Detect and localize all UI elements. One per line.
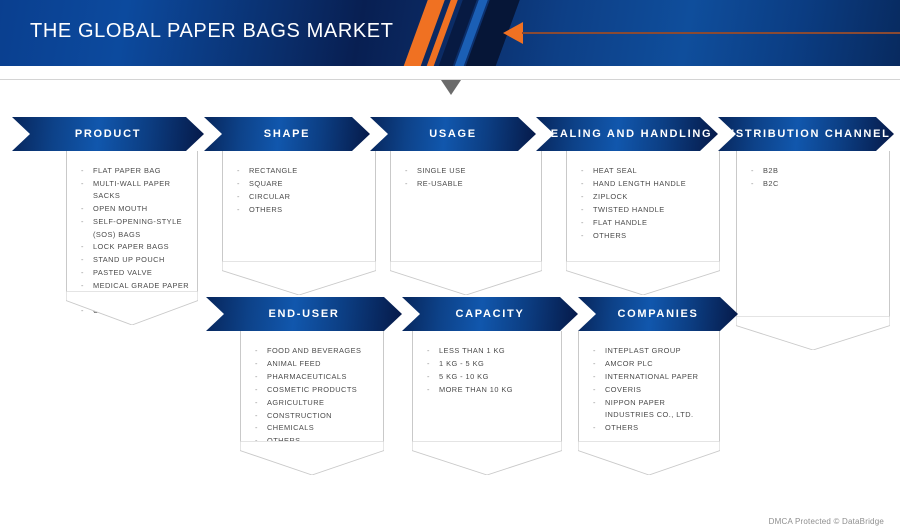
card-pointed-bottom	[390, 261, 542, 295]
list-item: B2C	[763, 178, 883, 190]
list-item: OPEN MOUTH	[93, 203, 191, 215]
category-card-product: FLAT PAPER BAGMULTI-WALL PAPER SACKSOPEN…	[66, 151, 198, 291]
category-item-list-companies: INTEPLAST GROUPAMCOR PLCINTERNATIONAL PA…	[579, 345, 719, 434]
arrow-tail-line	[522, 32, 900, 34]
list-item: ZIPLOCK	[593, 191, 713, 203]
list-item: B2B	[763, 165, 883, 177]
category-card-body: B2BB2C	[737, 151, 889, 190]
down-triangle-icon	[441, 80, 461, 95]
category-card-distribution-channel: B2BB2C	[736, 151, 890, 316]
category-item-list-sealing-and-handling: HEAT SEALHAND LENGTH HANDLEZIPLOCKTWISTE…	[567, 165, 719, 242]
card-pointed-bottom	[412, 441, 562, 475]
category-card-companies: INTEPLAST GROUPAMCOR PLCINTERNATIONAL PA…	[578, 331, 720, 441]
card-pointed-bottom	[66, 291, 198, 325]
category-banner-label: USAGE	[429, 128, 477, 140]
category-item-list-usage: SINGLE USERE-USABLE	[391, 165, 541, 190]
list-item: ANIMAL FEED	[267, 358, 377, 370]
list-item: MULTI-WALL PAPER SACKS	[93, 178, 191, 203]
list-item: INTEPLAST GROUP	[605, 345, 713, 357]
list-item: STAND UP POUCH	[93, 254, 191, 266]
card-pointed-bottom	[578, 441, 720, 475]
card-pointed-bottom	[566, 261, 720, 295]
list-item: HEAT SEAL	[593, 165, 713, 177]
list-item: SELF-OPENING-STYLE (SOS) BAGS	[93, 216, 191, 241]
list-item: OTHERS	[593, 230, 713, 242]
category-item-list-shape: RECTANGLESQUARECIRCULAROTHERS	[223, 165, 375, 216]
category-card-body: LESS THAN 1 KG1 KG - 5 KG5 KG - 10 KGMOR…	[413, 331, 561, 396]
list-item: INTERNATIONAL PAPER	[605, 371, 713, 383]
category-item-list-distribution-channel: B2BB2C	[737, 165, 889, 190]
category-banner-label: SHAPE	[264, 128, 310, 140]
card-pointed-bottom	[222, 261, 376, 295]
list-item: FOOD AND BEVERAGES	[267, 345, 377, 357]
list-item: MORE THAN 10 KG	[439, 384, 555, 396]
list-item: CIRCULAR	[249, 191, 369, 203]
list-item: FLAT HANDLE	[593, 217, 713, 229]
category-banner-usage[interactable]: USAGE	[370, 117, 536, 151]
card-pointed-bottom	[736, 316, 890, 350]
list-item: HAND LENGTH HANDLE	[593, 178, 713, 190]
list-item: CONSTRUCTION	[267, 410, 377, 422]
category-banner-companies[interactable]: COMPANIES	[578, 297, 738, 331]
list-item: COSMETIC PRODUCTS	[267, 384, 377, 396]
page-header: THE GLOBAL PAPER BAGS MARKET	[0, 0, 900, 66]
category-banner-capacity[interactable]: CAPACITY	[402, 297, 578, 331]
list-item: OTHERS	[605, 422, 713, 434]
category-banner-label: END-USER	[268, 308, 339, 320]
category-card-usage: SINGLE USERE-USABLE	[390, 151, 542, 261]
page-title: THE GLOBAL PAPER BAGS MARKET	[30, 20, 394, 43]
category-item-list-end-user: FOOD AND BEVERAGESANIMAL FEEDPHARMACEUTI…	[241, 345, 383, 448]
category-banner-label: PRODUCT	[75, 128, 141, 140]
list-item: AGRICULTURE	[267, 397, 377, 409]
list-item: SQUARE	[249, 178, 369, 190]
list-item: LESS THAN 1 KG	[439, 345, 555, 357]
category-banner-product[interactable]: PRODUCT	[12, 117, 204, 151]
category-card-body: RECTANGLESQUARECIRCULAROTHERS	[223, 151, 375, 216]
category-banner-distribution-channel[interactable]: DISTRIBUTION CHANNEL	[718, 117, 894, 151]
category-card-body: SINGLE USERE-USABLE	[391, 151, 541, 190]
category-banner-shape[interactable]: SHAPE	[204, 117, 370, 151]
card-pointed-bottom	[240, 441, 384, 475]
category-banner-label: DISTRIBUTION CHANNEL	[721, 128, 890, 140]
category-card-end-user: FOOD AND BEVERAGESANIMAL FEEDPHARMACEUTI…	[240, 331, 384, 441]
category-banner-sealing-and-handling[interactable]: SEALING AND HANDLING	[536, 117, 718, 151]
list-item: AMCOR PLC	[605, 358, 713, 370]
copyright-notice: DMCA Protected © DataBridge	[769, 517, 884, 526]
list-item: SINGLE USE	[417, 165, 535, 177]
list-item: PASTED VALVE	[93, 267, 191, 279]
list-item: LOCK PAPER BAGS	[93, 241, 191, 253]
category-card-body: HEAT SEALHAND LENGTH HANDLEZIPLOCKTWISTE…	[567, 151, 719, 242]
list-item: RECTANGLE	[249, 165, 369, 177]
list-item: COVERIS	[605, 384, 713, 396]
list-item: PHARMACEUTICALS	[267, 371, 377, 383]
category-banner-label: CAPACITY	[455, 308, 524, 320]
category-banner-label: COMPANIES	[617, 308, 698, 320]
list-item: FLAT PAPER BAG	[93, 165, 191, 177]
category-card-body: FOOD AND BEVERAGESANIMAL FEEDPHARMACEUTI…	[241, 331, 383, 448]
list-item: TWISTED HANDLE	[593, 204, 713, 216]
category-banner-label: SEALING AND HANDLING	[542, 128, 712, 140]
list-item: CHEMICALS	[267, 422, 377, 434]
category-card-capacity: LESS THAN 1 KG1 KG - 5 KG5 KG - 10 KGMOR…	[412, 331, 562, 441]
category-card-body: INTEPLAST GROUPAMCOR PLCINTERNATIONAL PA…	[579, 331, 719, 434]
category-item-list-capacity: LESS THAN 1 KG1 KG - 5 KG5 KG - 10 KGMOR…	[413, 345, 561, 396]
category-banner-end-user[interactable]: END-USER	[206, 297, 402, 331]
category-card-sealing-and-handling: HEAT SEALHAND LENGTH HANDLEZIPLOCKTWISTE…	[566, 151, 720, 261]
left-arrow-icon	[503, 22, 523, 44]
category-card-shape: RECTANGLESQUARECIRCULAROTHERS	[222, 151, 376, 261]
list-item: NIPPON PAPER INDUSTRIES CO., LTD.	[605, 397, 713, 422]
list-item: 5 KG - 10 KG	[439, 371, 555, 383]
list-item: OTHERS	[249, 204, 369, 216]
list-item: 1 KG - 5 KG	[439, 358, 555, 370]
list-item: RE-USABLE	[417, 178, 535, 190]
